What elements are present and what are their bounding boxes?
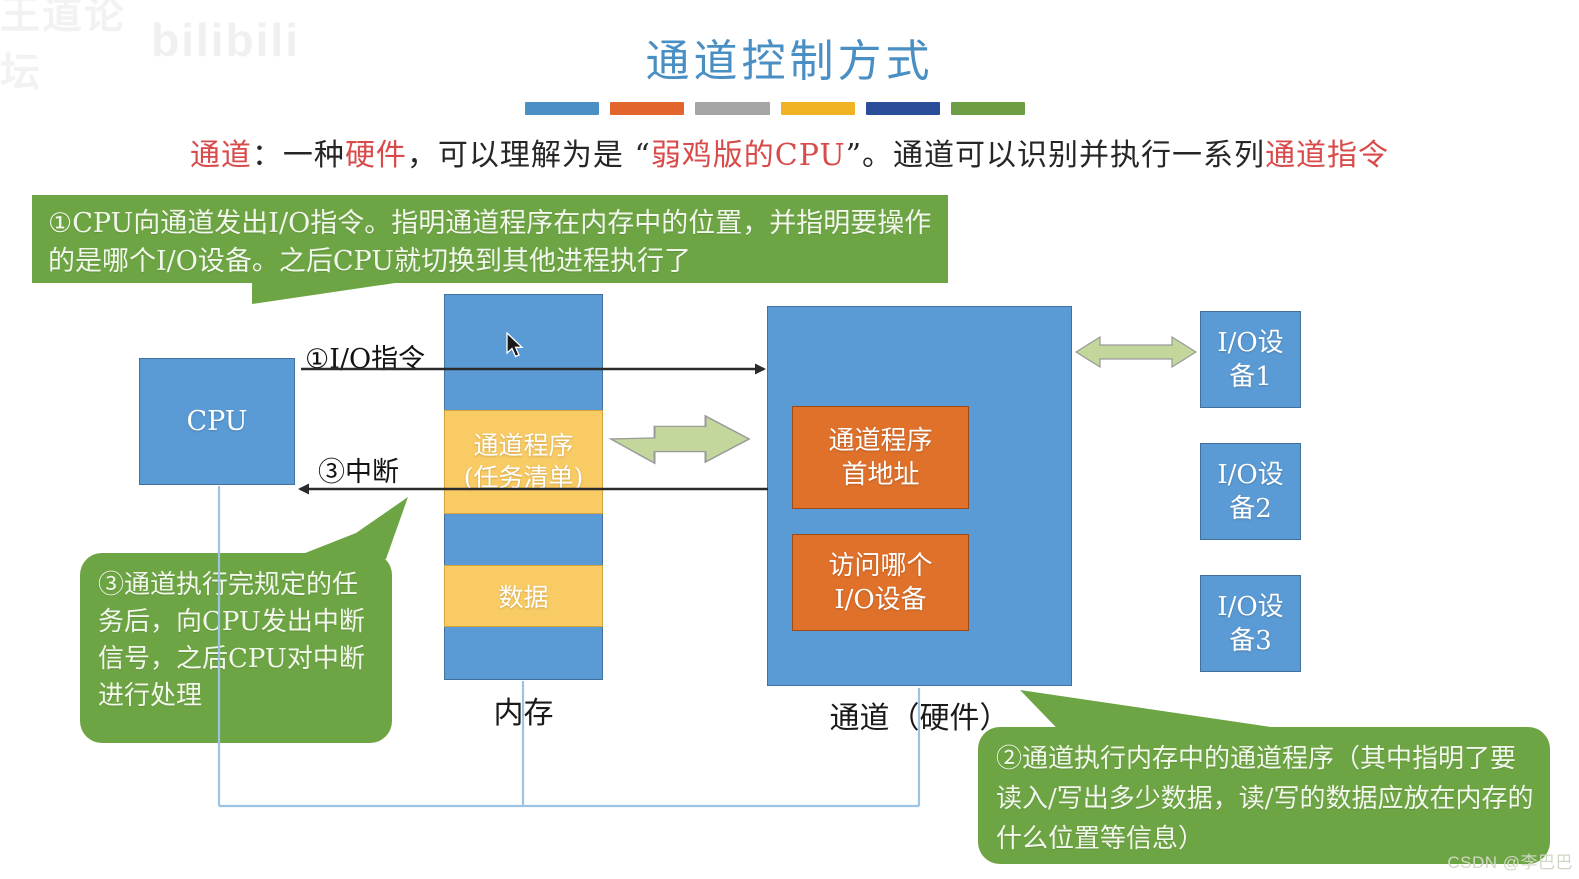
callout-step2-text: ②通道执行内存中的通道程序（其中指明了要读入/写出多少数据，读/写的数据应放在内… xyxy=(996,744,1534,854)
channel-program-address-line2: 首地址 xyxy=(828,458,932,492)
io-device-2-line2: 备2 xyxy=(1217,492,1283,526)
channel-caption: 通道（硬件） xyxy=(767,693,1072,737)
memory-caption: 内存 xyxy=(444,688,603,732)
io-device-3-line2: 备3 xyxy=(1217,624,1283,658)
arrow-channel-device-double xyxy=(1076,337,1196,367)
arrow-memory-channel-double xyxy=(611,416,749,463)
title-rule-bar-5 xyxy=(866,102,940,115)
memory-data-block[interactable]: 数据 xyxy=(444,565,603,627)
subtitle-part-6: ”。通道可以识别并执行一系列 xyxy=(846,138,1265,173)
page-title-text: 通道控制方式 xyxy=(0,40,1579,84)
channel-target-device-line2: I/O设备 xyxy=(828,583,932,617)
channel-program-address-line1: 通道程序 xyxy=(828,424,932,458)
title-rule-bar-3 xyxy=(695,102,769,115)
title-rule-bar-6 xyxy=(951,102,1025,115)
callout-step2: ②通道执行内存中的通道程序（其中指明了要读入/写出多少数据，读/写的数据应放在内… xyxy=(978,727,1550,864)
subtitle-part-4: ，可以理解为是 “ xyxy=(407,138,651,173)
subtitle-part-5: 弱鸡版的CPU xyxy=(651,138,846,173)
title-rule-bar-1 xyxy=(525,102,599,115)
memory-channel-program-block[interactable]: 通道程序 (任务清单) xyxy=(444,410,603,514)
subtitle-line: 通道：一种硬件，可以理解为是 “弱鸡版的CPU”。通道可以识别并执行一系列通道指… xyxy=(0,130,1579,174)
io-device-1-line1: I/O设 xyxy=(1217,326,1283,360)
cpu-label: CPU xyxy=(186,406,247,437)
io-device-3-block[interactable]: I/O设 备3 xyxy=(1200,575,1301,672)
io-device-3-line1: I/O设 xyxy=(1217,590,1283,624)
channel-program-address-block[interactable]: 通道程序 首地址 xyxy=(792,406,969,509)
title-rule-bar-2 xyxy=(610,102,684,115)
callout-step1-tail xyxy=(252,282,402,304)
callout-step3-text: ③通道执行完规定的任务后，向CPU发出中断信号，之后CPU对中断进行处理 xyxy=(98,570,365,711)
memory-channel-program-line1: 通道程序 xyxy=(464,430,584,462)
memory-data-label: 数据 xyxy=(498,578,548,614)
callout-step1-text: ①CPU向通道发出I/O指令。指明通道程序在内存中的位置，并指明要操作的是哪个I… xyxy=(48,208,931,277)
channel-target-device-block[interactable]: 访问哪个 I/O设备 xyxy=(792,534,969,631)
io-device-2-line1: I/O设 xyxy=(1217,458,1283,492)
subtitle-part-7: 通道指令 xyxy=(1265,138,1389,173)
watermark-csdn: CSDN @李巴巴 xyxy=(1447,848,1573,873)
io-device-2-block[interactable]: I/O设 备2 xyxy=(1200,443,1301,540)
memory-channel-program-line2: (任务清单) xyxy=(464,462,584,494)
io-device-1-line2: 备1 xyxy=(1217,360,1283,394)
channel-target-device-line1: 访问哪个 xyxy=(828,549,932,583)
title-rule-bar-4 xyxy=(781,102,855,115)
subtitle-part-1: 通道 xyxy=(190,138,252,173)
arrow-label-io-instruction: ①I/O指令 xyxy=(305,337,425,376)
subtitle-part-2: ：一种 xyxy=(252,138,345,173)
title-rule-bars xyxy=(525,102,1025,115)
mouse-cursor xyxy=(506,332,526,360)
cpu-block[interactable]: CPU xyxy=(139,358,295,485)
callout-step1: ①CPU向通道发出I/O指令。指明通道程序在内存中的位置，并指明要操作的是哪个I… xyxy=(32,195,948,283)
subtitle-part-3: 硬件 xyxy=(345,138,407,173)
slide-canvas: 王道论坛 bilibili 通道控制方式 通道：一种硬件，可以理解为是 “弱鸡版… xyxy=(0,0,1579,879)
callout-step3: ③通道执行完规定的任务后，向CPU发出中断信号，之后CPU对中断进行处理 xyxy=(80,553,392,743)
page-title: 通道控制方式 xyxy=(0,40,1579,84)
io-device-1-block[interactable]: I/O设 备1 xyxy=(1200,311,1301,408)
arrow-label-interrupt: ③中断 xyxy=(318,450,399,489)
